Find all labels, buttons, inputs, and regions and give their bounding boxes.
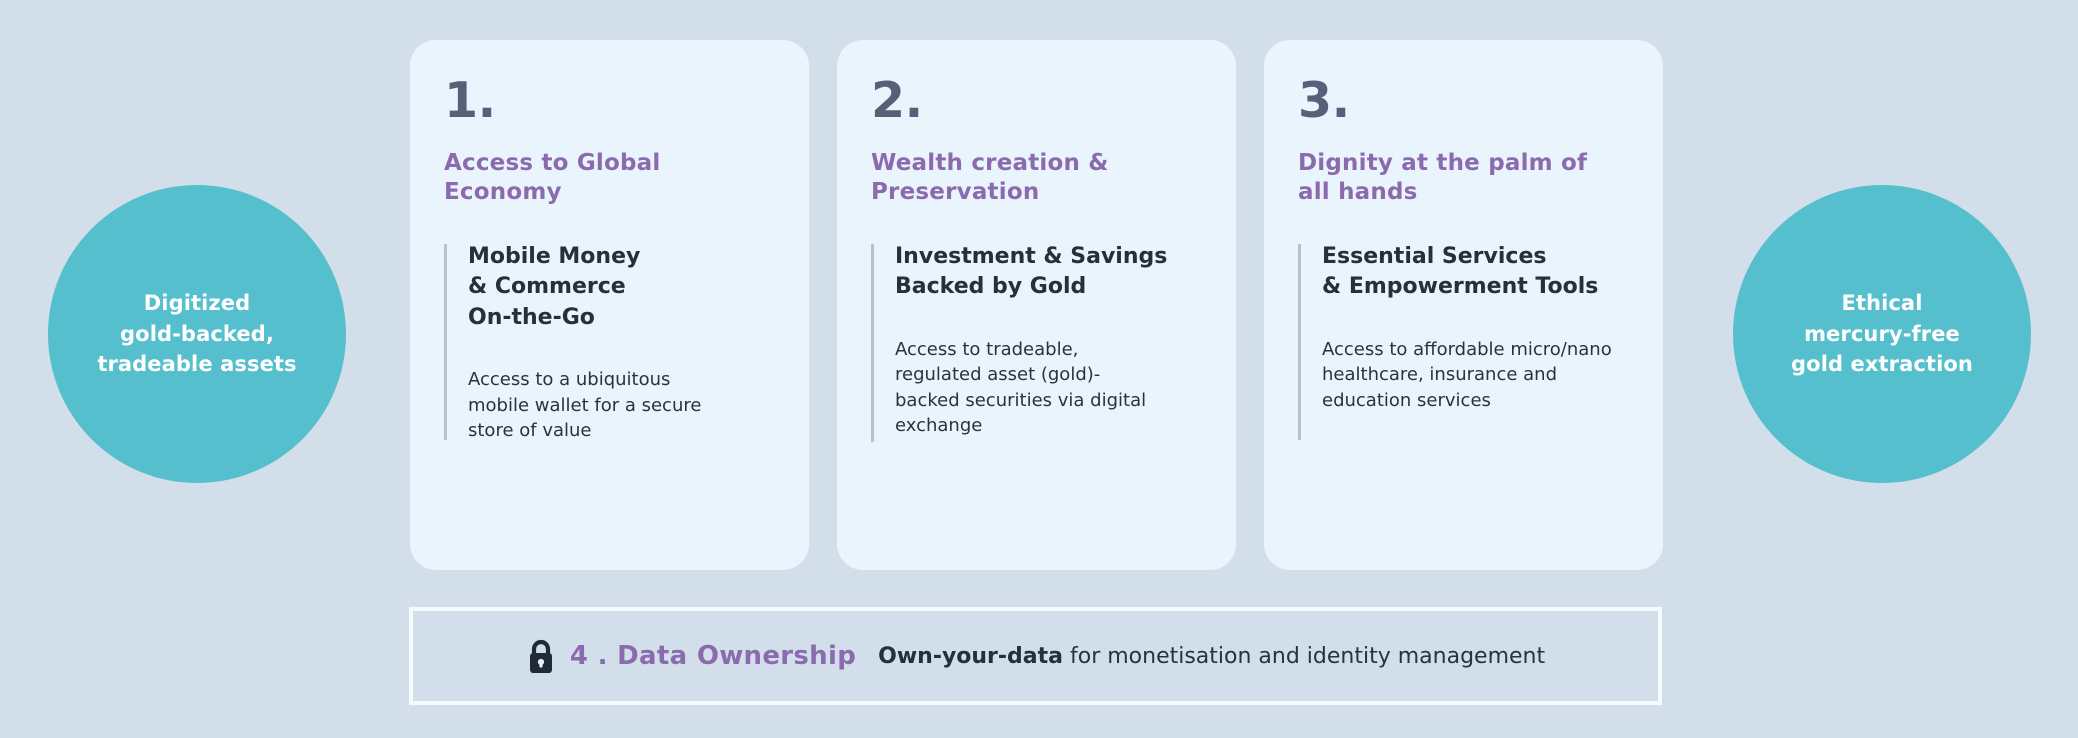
right-circle-label: Ethical mercury-free gold extraction — [1791, 288, 1973, 380]
left-pillar-circle: Digitized gold-backed, tradeable assets — [48, 185, 346, 483]
banner-number-label: 4 . Data Ownership — [570, 641, 856, 671]
card-1-description: Access to a ubiquitous mobile wallet for… — [468, 367, 775, 444]
card-3-accent-bar — [1298, 244, 1301, 440]
card-1-body: Mobile Money & Commerce On-the-Go Access… — [444, 242, 775, 444]
card-3-body: Essential Services & Empowerment Tools A… — [1298, 242, 1629, 413]
card-1-heading: Access to Global Economy — [444, 149, 775, 208]
pillar-card-3: 3. Dignity at the palm of all hands Esse… — [1264, 40, 1663, 570]
data-ownership-banner: 4 . Data Ownership Own-your-data for mon… — [409, 607, 1662, 705]
card-1-accent-bar — [444, 244, 447, 440]
card-3-subtitle: Essential Services & Empowerment Tools — [1322, 242, 1629, 303]
card-3-heading: Dignity at the palm of all hands — [1298, 149, 1629, 208]
left-circle-label: Digitized gold-backed, tradeable assets — [97, 288, 296, 380]
banner-strong-text: Own-your-data — [878, 644, 1063, 669]
lock-icon — [526, 639, 556, 675]
card-2-accent-bar — [871, 244, 874, 442]
card-2-heading: Wealth creation & Preservation — [871, 149, 1202, 208]
banner-rest-text: for monetisation and identity management — [1063, 644, 1545, 669]
pillar-card-1: 1. Access to Global Economy Mobile Money… — [410, 40, 809, 570]
pillar-card-2: 2. Wealth creation & Preservation Invest… — [837, 40, 1236, 570]
card-2-subtitle: Investment & Savings Backed by Gold — [895, 242, 1202, 303]
card-3-description: Access to affordable micro/nano healthca… — [1322, 337, 1629, 414]
right-pillar-circle: Ethical mercury-free gold extraction — [1733, 185, 2031, 483]
card-2-body: Investment & Savings Backed by Gold Acce… — [871, 242, 1202, 439]
card-2-description: Access to tradeable, regulated asset (go… — [895, 337, 1202, 439]
card-1-number: 1. — [444, 76, 775, 125]
card-1-subtitle: Mobile Money & Commerce On-the-Go — [468, 242, 775, 333]
card-2-number: 2. — [871, 76, 1202, 125]
banner-content: 4 . Data Ownership Own-your-data for mon… — [526, 638, 1545, 675]
card-3-number: 3. — [1298, 76, 1629, 125]
